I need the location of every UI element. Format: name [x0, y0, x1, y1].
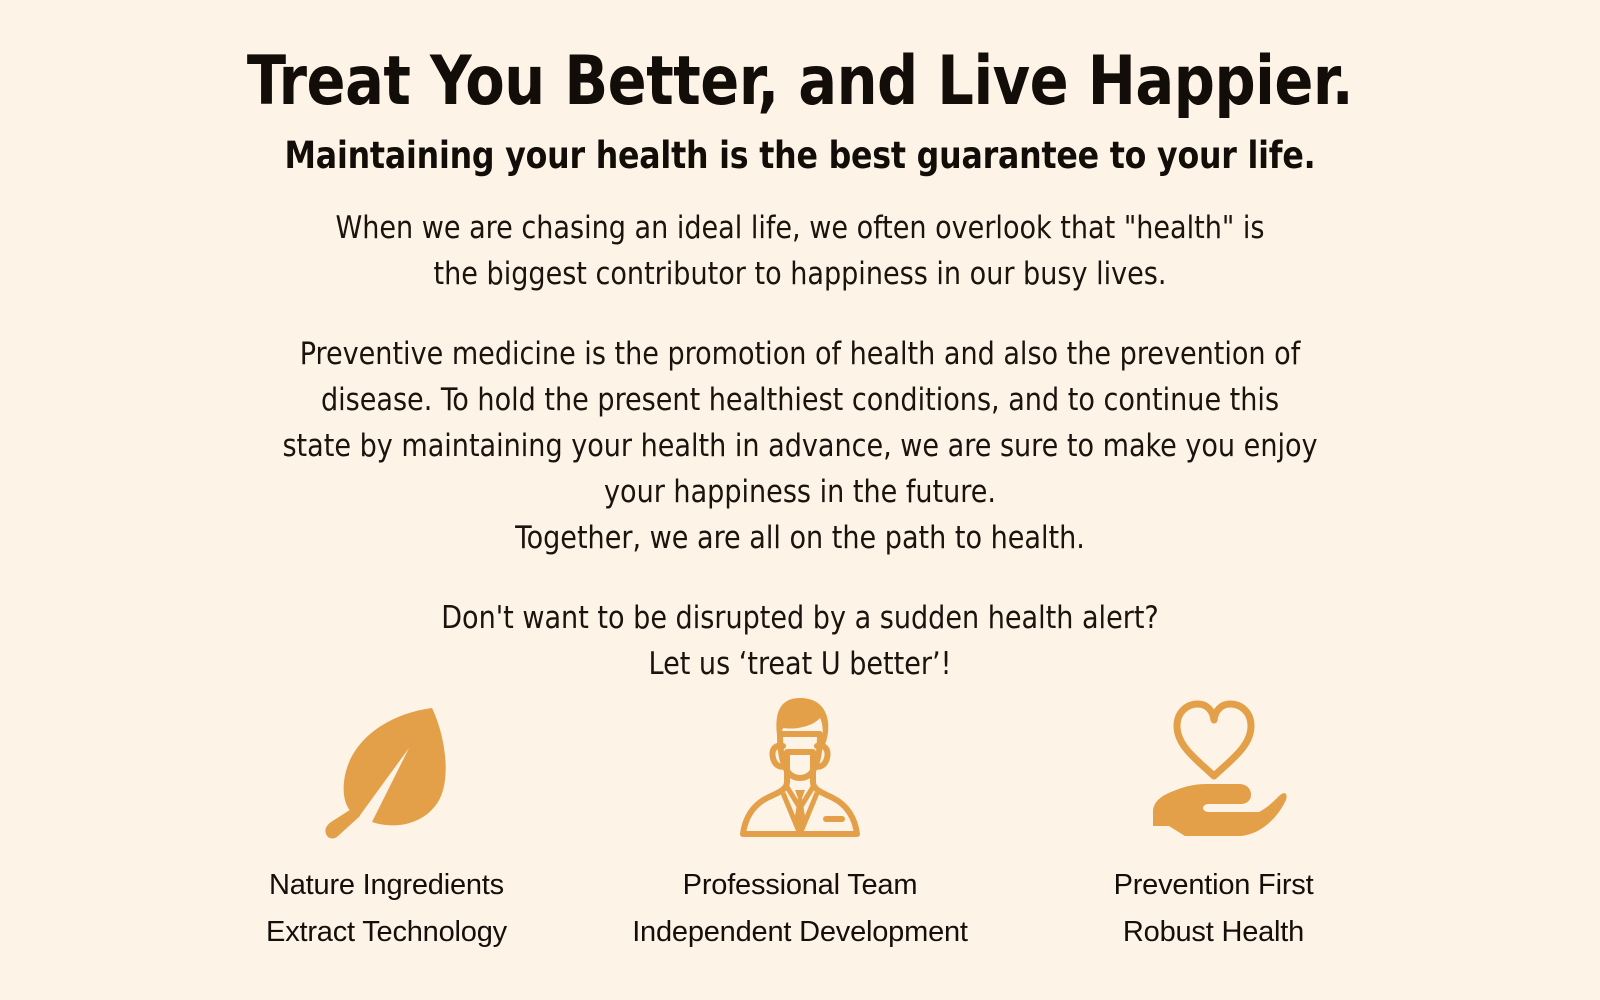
feature-caption-line-2: Independent Development	[632, 909, 968, 956]
feature-row: Nature Ingredients Extract Technology	[180, 690, 1420, 956]
paragraph-3-line-2: Let us ‘treat U better’!	[179, 641, 1421, 687]
paragraph-3-line-1: Don't want to be disrupted by a sudden h…	[179, 595, 1421, 641]
feature-caption: Nature Ingredients Extract Technology	[266, 862, 507, 956]
paragraph-1: When we are chasing an ideal life, we of…	[179, 205, 1421, 297]
paragraph-2-line-4: your happiness in the future.	[179, 469, 1421, 515]
leaf-icon	[312, 690, 462, 840]
body-copy: When we are chasing an ideal life, we of…	[160, 205, 1440, 687]
feature-professional-team: Professional Team Independent Developmen…	[594, 690, 1007, 956]
headline-block: Treat You Better, and Live Happier. Main…	[0, 40, 1600, 180]
feature-caption-line-2: Robust Health	[1114, 909, 1314, 956]
paragraph-2-line-5: Together, we are all on the path to heal…	[179, 515, 1421, 561]
feature-prevention-first: Prevention First Robust Health	[1007, 690, 1420, 956]
feature-caption: Prevention First Robust Health	[1114, 862, 1314, 956]
feature-caption-line-1: Professional Team	[632, 862, 968, 909]
paragraph-2: Preventive medicine is the promotion of …	[179, 331, 1421, 561]
heart-in-hand-icon	[1139, 690, 1289, 840]
paragraph-2-line-1: Preventive medicine is the promotion of …	[179, 331, 1421, 377]
paragraph-1-line-1: When we are chasing an ideal life, we of…	[179, 205, 1421, 251]
paragraph-1-line-2: the biggest contributor to happiness in …	[179, 251, 1421, 297]
businessperson-icon	[725, 690, 875, 840]
paragraph-3: Don't want to be disrupted by a sudden h…	[179, 595, 1421, 687]
promo-page: Treat You Better, and Live Happier. Main…	[0, 0, 1600, 1000]
page-subtitle: Maintaining your health is the best guar…	[40, 132, 1560, 180]
heart-in-hand-icon-wrapper	[1139, 690, 1289, 840]
page-title: Treat You Better, and Live Happier.	[48, 40, 1552, 124]
leaf-icon-wrapper	[312, 690, 462, 840]
feature-caption-line-2: Extract Technology	[266, 909, 507, 956]
feature-caption-line-1: Nature Ingredients	[266, 862, 507, 909]
feature-nature-ingredients: Nature Ingredients Extract Technology	[180, 690, 593, 956]
paragraph-2-line-2: disease. To hold the present healthiest …	[179, 377, 1421, 423]
feature-caption: Professional Team Independent Developmen…	[632, 862, 968, 956]
paragraph-2-line-3: state by maintaining your health in adva…	[179, 423, 1421, 469]
businessperson-icon-wrapper	[725, 690, 875, 840]
feature-caption-line-1: Prevention First	[1114, 862, 1314, 909]
